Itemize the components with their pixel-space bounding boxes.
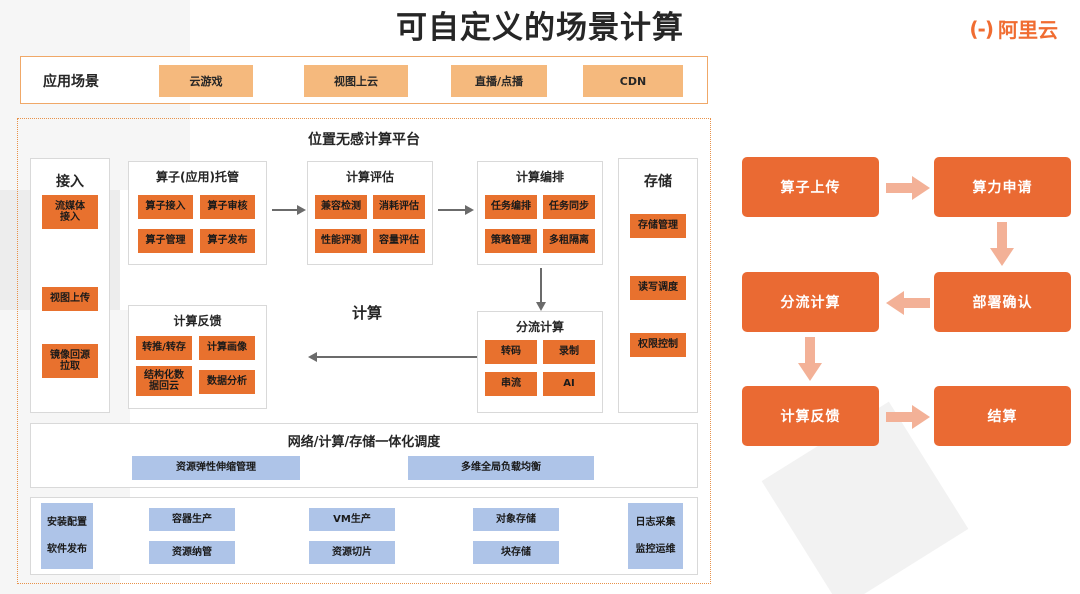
- chip-label: 容器生产: [172, 512, 212, 528]
- infra-item-log-collection: 日志采集: [636, 515, 676, 531]
- storage-item-access-control[interactable]: 权限控制: [630, 333, 686, 357]
- infra-item-block-storage[interactable]: 块存储: [473, 541, 559, 564]
- chip-label: 多维全局负载均衡: [461, 460, 541, 476]
- infra-item-resource-slicing[interactable]: 资源切片: [309, 541, 395, 564]
- platform-title: 位置无感计算平台: [18, 129, 710, 149]
- brand-logo: (-) 阿里云: [969, 14, 1058, 43]
- chip-label: 计算画像: [207, 342, 247, 354]
- compute-evaluation-title: 计算评估: [308, 168, 432, 185]
- chip-label: 视图上传: [50, 293, 90, 305]
- arrow-feedback-to-settle-icon: [886, 405, 930, 433]
- infra-item-software-release: 软件发布: [47, 542, 87, 558]
- flow-node-label: 部署确认: [973, 292, 1033, 312]
- feedback-item-compute-profile[interactable]: 计算画像: [199, 336, 255, 360]
- arrow-split-to-feedback-long: [307, 352, 479, 362]
- chip-label: 算子发布: [208, 235, 248, 247]
- infra-right-stack[interactable]: 日志采集 监控运维: [628, 503, 683, 569]
- operator-item-review[interactable]: 算子审核: [200, 195, 255, 219]
- chip-label: 容量评估: [379, 235, 419, 247]
- feedback-item-structured-data[interactable]: 结构化数 据回云: [136, 366, 192, 396]
- evaluation-item-compatibility[interactable]: 兼容检测: [315, 195, 367, 219]
- infra-item-vm-production[interactable]: VM生产: [309, 508, 395, 531]
- chip-label: 多租隔离: [549, 235, 589, 247]
- chip-label: 算子审核: [208, 201, 248, 213]
- access-item-view-upload[interactable]: 视图上传: [42, 287, 98, 311]
- flow-node-confirm-deploy[interactable]: 部署确认: [934, 272, 1071, 332]
- flow-node-settlement[interactable]: 结算: [934, 386, 1071, 446]
- chip-label: AI: [563, 378, 574, 390]
- chip-label: 流媒体 接入: [55, 201, 85, 224]
- feedback-item-data-analysis[interactable]: 数据分析: [199, 370, 255, 394]
- storage-column-title: 存储: [619, 171, 697, 191]
- chip-label: 资源弹性伸缩管理: [176, 460, 256, 476]
- access-item-mirror-origin-pull[interactable]: 镜像回源 拉取: [42, 344, 98, 378]
- slide-root: 可自定义的场景计算 (-) 阿里云 应用场景 云游戏 视图上云 直播/点播 CD…: [0, 0, 1080, 594]
- alibaba-cloud-mark-icon: (-): [969, 17, 993, 41]
- chip-label: 读写调度: [638, 282, 678, 294]
- chip-label: 录制: [559, 346, 579, 358]
- unified-scheduling-panel: 网络/计算/存储一体化调度: [30, 423, 698, 488]
- unified-scheduling-title: 网络/计算/存储一体化调度: [31, 431, 697, 450]
- flow-node-label: 算子上传: [781, 177, 841, 197]
- scheduling-item-elastic-scaling[interactable]: 资源弹性伸缩管理: [132, 456, 300, 480]
- feedback-item-repush-restore[interactable]: 转推/转存: [136, 336, 192, 360]
- chip-label: 镜像回源 拉取: [50, 350, 90, 373]
- infra-item-install-config: 安装配置: [47, 515, 87, 531]
- scenario-item-cloud-gaming[interactable]: 云游戏: [159, 65, 253, 97]
- flow-node-label: 分流计算: [781, 292, 841, 312]
- flow-node-compute-feedback[interactable]: 计算反馈: [742, 386, 879, 446]
- compute-label: 计算: [352, 302, 382, 323]
- orchestration-item-task-sync[interactable]: 任务同步: [543, 195, 595, 219]
- split-item-transcode[interactable]: 转码: [485, 340, 537, 364]
- split-item-ai[interactable]: AI: [543, 372, 595, 396]
- evaluation-item-capacity[interactable]: 容量评估: [373, 229, 425, 253]
- chip-label: 结构化数 据回云: [144, 370, 184, 393]
- arrow-evaluation-to-orchestration: [438, 205, 474, 215]
- arrow-request-to-confirm-icon: [990, 222, 1014, 270]
- infra-item-container-production[interactable]: 容器生产: [149, 508, 235, 531]
- chip-label: 数据分析: [207, 376, 247, 388]
- chip-label: 消耗评估: [379, 201, 419, 213]
- split-item-record[interactable]: 录制: [543, 340, 595, 364]
- evaluation-item-consumption[interactable]: 消耗评估: [373, 195, 425, 219]
- orchestration-item-multi-tenant[interactable]: 多租隔离: [543, 229, 595, 253]
- flow-node-label: 计算反馈: [781, 406, 841, 426]
- infra-item-monitoring-ops: 监控运维: [636, 542, 676, 558]
- arrow-confirm-to-split-icon: [886, 291, 930, 319]
- flow-node-label: 算力申请: [973, 177, 1033, 197]
- chip-label: 资源切片: [332, 545, 372, 561]
- storage-item-rw-scheduling[interactable]: 读写调度: [630, 276, 686, 300]
- operator-item-manage[interactable]: 算子管理: [138, 229, 193, 253]
- page-title: 可自定义的场景计算: [0, 2, 1080, 47]
- flow-node-request-compute[interactable]: 算力申请: [934, 157, 1071, 217]
- scenario-item-live-vod[interactable]: 直播/点播: [451, 65, 547, 97]
- operator-hosting-title: 算子(应用)托管: [129, 168, 266, 185]
- arrow-hosting-to-evaluation: [272, 205, 306, 215]
- chip-label: 资源纳管: [172, 545, 212, 561]
- chip-label: 权限控制: [638, 339, 678, 351]
- operator-item-publish[interactable]: 算子发布: [200, 229, 255, 253]
- chip-label: 任务同步: [549, 201, 589, 213]
- infra-item-object-storage[interactable]: 对象存储: [473, 508, 559, 531]
- chip-label: 算子接入: [146, 201, 186, 213]
- split-compute-title: 分流计算: [478, 318, 602, 335]
- scenario-item-video-to-cloud[interactable]: 视图上云: [304, 65, 408, 97]
- operator-item-access[interactable]: 算子接入: [138, 195, 193, 219]
- chip-label: 兼容检测: [321, 201, 361, 213]
- chip-label: 存储管理: [638, 220, 678, 232]
- flow-node-upload-operator[interactable]: 算子上传: [742, 157, 879, 217]
- chip-label: 算子管理: [146, 235, 186, 247]
- arrow-split-to-feedback-icon: [798, 337, 822, 385]
- access-item-streaming-media[interactable]: 流媒体 接入: [42, 195, 98, 229]
- scenario-item-cdn[interactable]: CDN: [583, 65, 683, 97]
- storage-item-storage-management[interactable]: 存储管理: [630, 214, 686, 238]
- chip-label: 转推/转存: [142, 342, 186, 354]
- scheduling-item-load-balancing[interactable]: 多维全局负载均衡: [408, 456, 594, 480]
- infra-left-stack[interactable]: 安装配置 软件发布: [41, 503, 93, 569]
- compute-orchestration-title: 计算编排: [478, 168, 602, 185]
- chip-label: 串流: [501, 378, 521, 390]
- chip-label: 块存储: [501, 545, 531, 561]
- orchestration-item-task-orchestration[interactable]: 任务编排: [485, 195, 537, 219]
- chip-label: 策略管理: [491, 235, 531, 247]
- application-scenario-bar: 应用场景 云游戏 视图上云 直播/点播 CDN: [20, 56, 708, 104]
- evaluation-item-performance[interactable]: 性能评测: [315, 229, 367, 253]
- arrow-upload-to-request-icon: [886, 176, 930, 204]
- flow-node-split-compute[interactable]: 分流计算: [742, 272, 879, 332]
- chip-label: 对象存储: [496, 512, 536, 528]
- chip-label: 任务编排: [491, 201, 531, 213]
- compute-feedback-title: 计算反馈: [129, 312, 266, 329]
- arrow-orchestration-to-split: [535, 268, 547, 312]
- infra-item-resource-management[interactable]: 资源纳管: [149, 541, 235, 564]
- chip-label: 性能评测: [321, 235, 361, 247]
- orchestration-item-policy-management[interactable]: 策略管理: [485, 229, 537, 253]
- access-column-title: 接入: [31, 171, 109, 191]
- chip-label: VM生产: [333, 512, 371, 528]
- chip-label: 转码: [501, 346, 521, 358]
- flow-node-label: 结算: [988, 406, 1018, 426]
- split-item-streaming[interactable]: 串流: [485, 372, 537, 396]
- scenario-bar-label: 应用场景: [43, 71, 99, 91]
- brand-logo-text: 阿里云: [998, 14, 1058, 43]
